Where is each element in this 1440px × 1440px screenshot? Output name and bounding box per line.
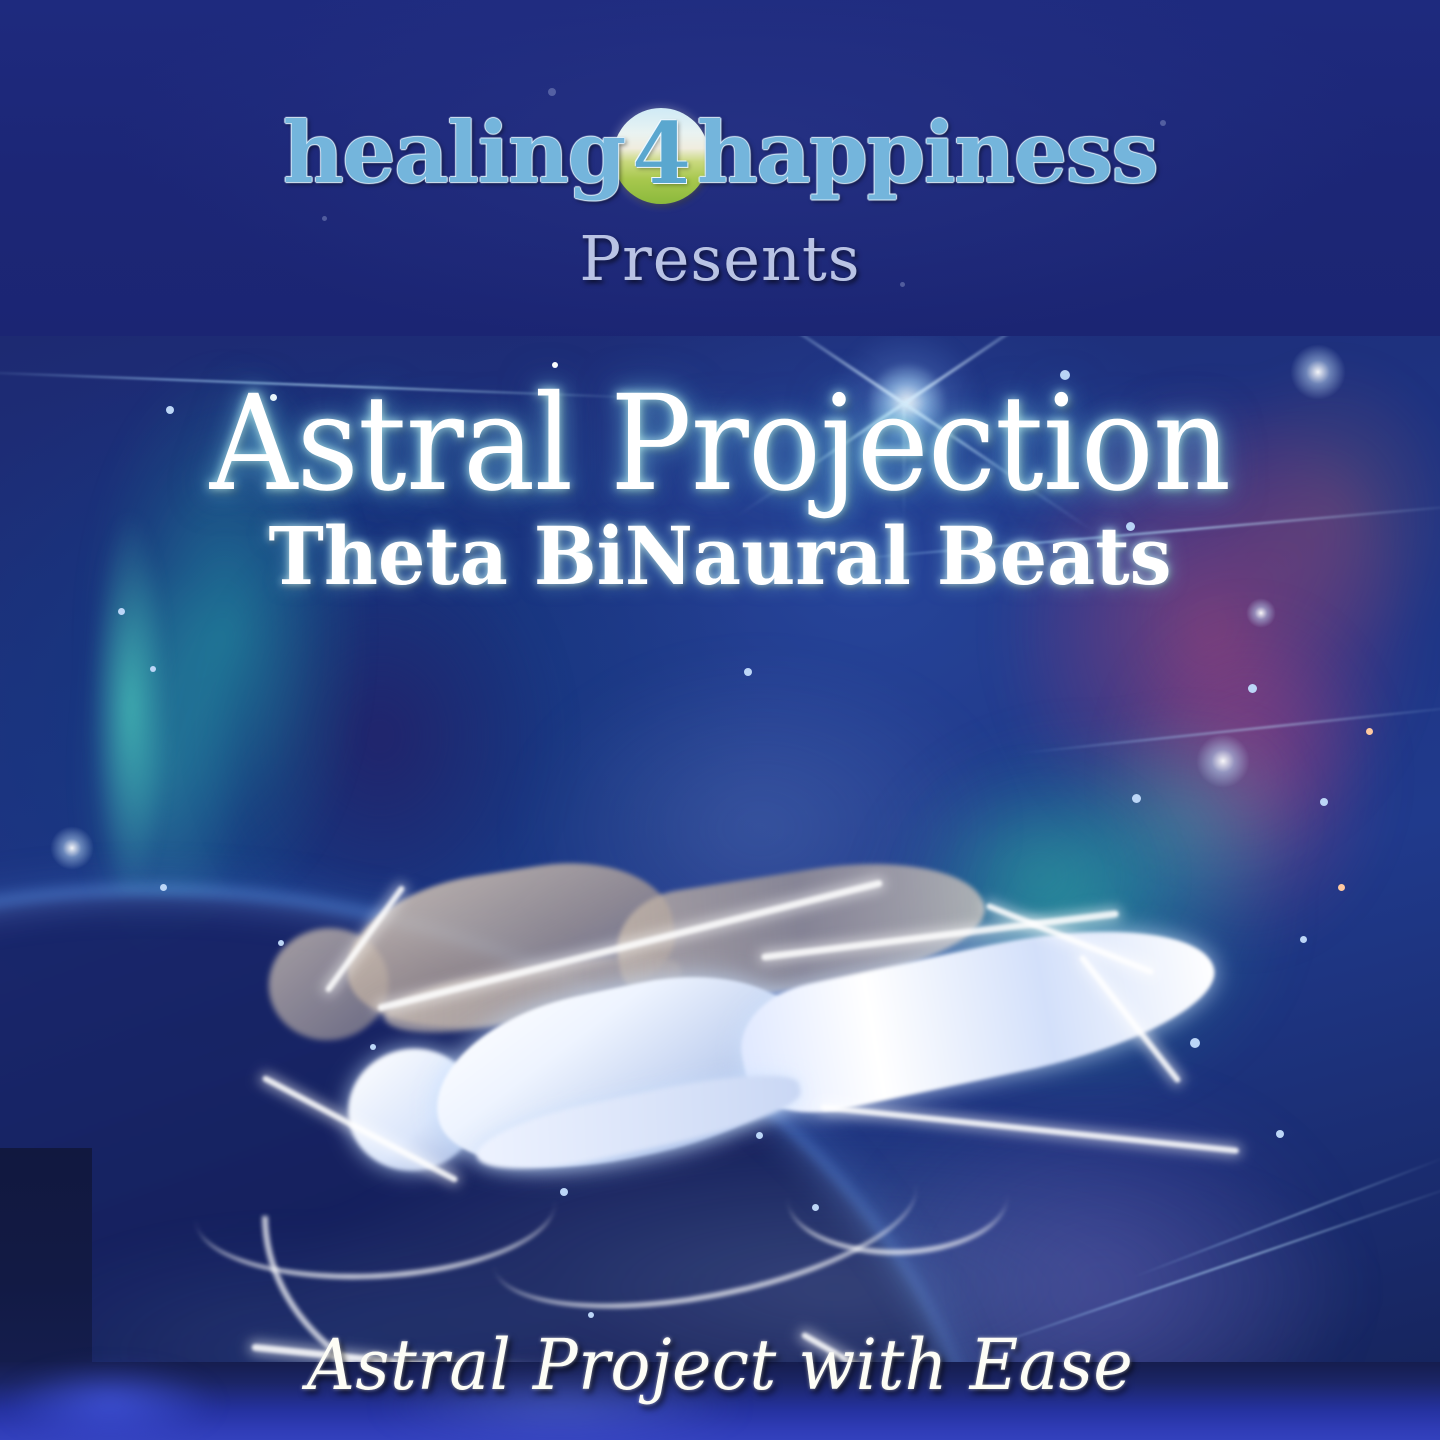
page-title: Astral Projection [58,378,1383,510]
logo-text-after: happiness [697,103,1157,202]
brand-logo-text: healing4happiness [283,108,1158,204]
logo-badge-number: 4 [613,108,709,204]
brand-logo[interactable]: healing4happiness [0,108,1440,204]
album-cover: Astral Projection Theta BiNaural Beats A… [0,0,1440,1440]
page-subtitle: Theta BiNaural Beats [50,516,1389,596]
presents-label: Presents [0,222,1440,295]
tagline: Astral Project with Ease [36,1330,1404,1400]
top-banner: healing4happiness Presents [0,0,1440,336]
logo-text-before: healing [283,103,625,202]
globe-badge-icon: 4 [613,108,709,204]
